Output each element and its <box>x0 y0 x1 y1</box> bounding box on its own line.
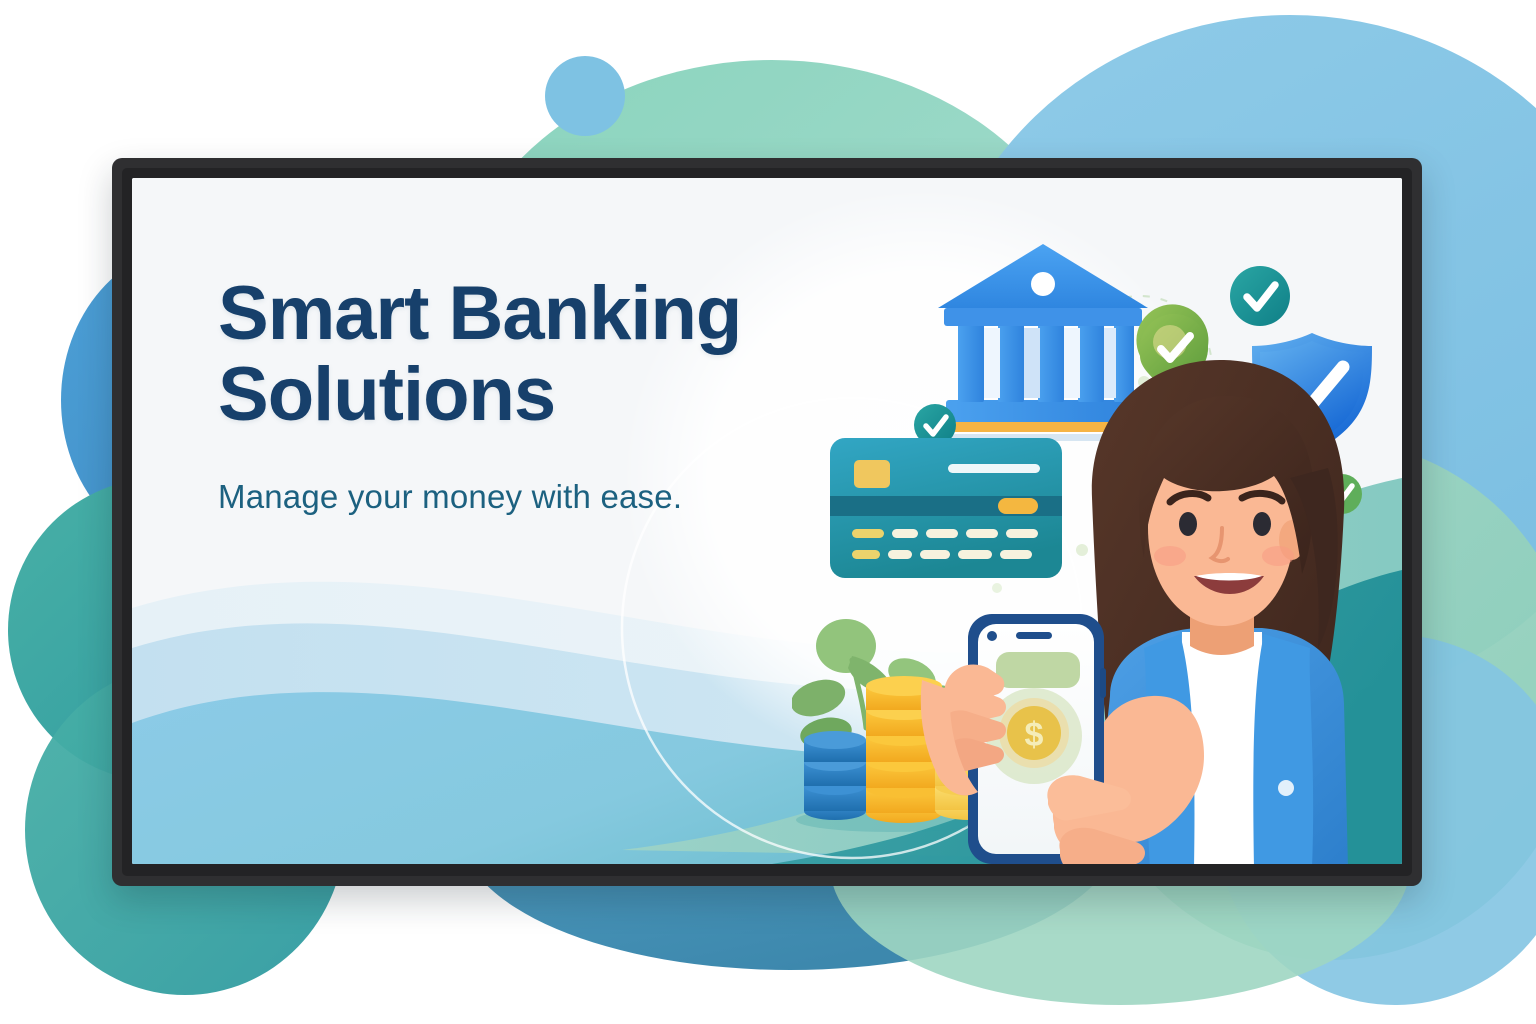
page-subtitle: Manage your money with ease. <box>218 478 918 516</box>
svg-text:$: $ <box>1025 716 1044 754</box>
hero-text-block: Smart Banking Solutions Manage your mone… <box>218 273 918 516</box>
monitor-frame: Smart Banking Solutions Manage your mone… <box>112 158 1422 886</box>
blue-coin-stack <box>804 731 866 820</box>
badge-check-teal-top-icon <box>1230 266 1290 326</box>
top-blue-circle <box>545 56 625 136</box>
slide-canvas: Smart Banking Solutions Manage your mone… <box>0 0 1536 1024</box>
screen: Smart Banking Solutions Manage your mone… <box>132 178 1402 864</box>
page-title: Smart Banking Solutions <box>218 273 918 436</box>
